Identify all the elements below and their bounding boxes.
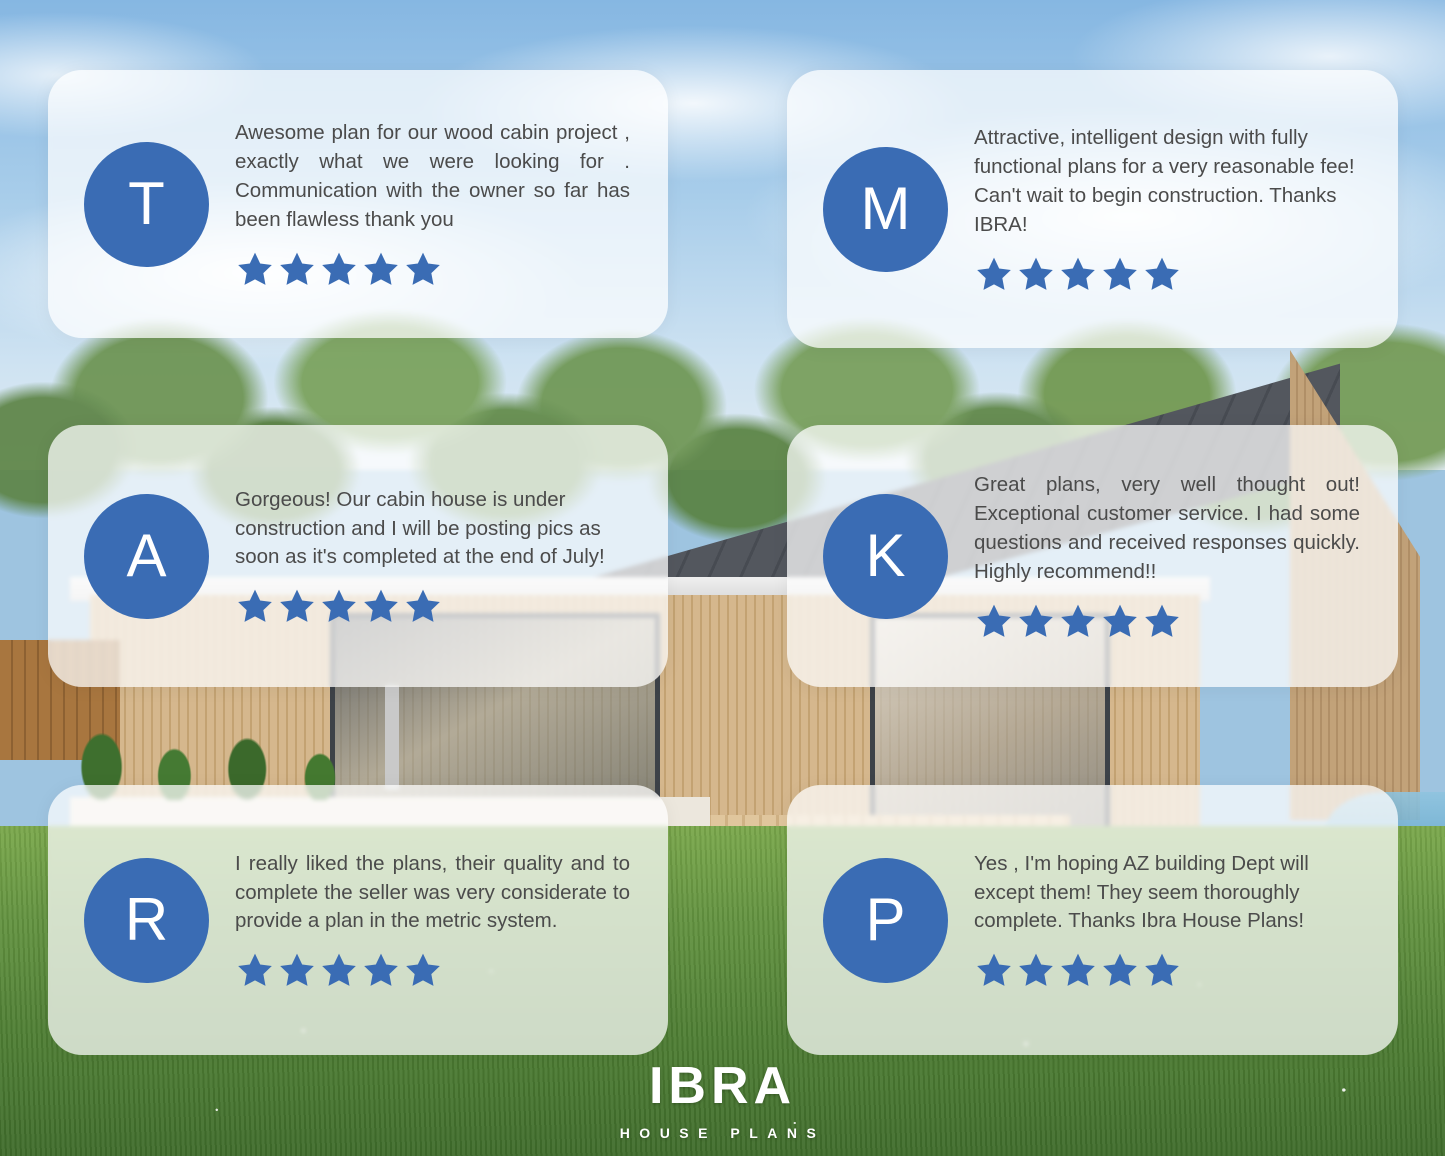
avatar-initial: T: [128, 174, 165, 234]
star-rating: [235, 249, 630, 289]
star-icon: [1016, 601, 1056, 641]
star-icon: [1100, 254, 1140, 294]
avatar-initial: A: [126, 526, 166, 586]
avatar-initial: M: [861, 179, 911, 239]
star-icon: [277, 249, 317, 289]
review-body: Awesome plan for our wood cabin project …: [235, 119, 630, 288]
avatar: A: [84, 494, 209, 619]
star-icon: [1016, 254, 1056, 294]
star-icon: [1100, 601, 1140, 641]
review-body: Great plans, very well thought out! Exce…: [974, 471, 1360, 640]
review-card[interactable]: M Attractive, intelligent design with fu…: [787, 70, 1398, 348]
testimonials-poster: T Awesome plan for our wood cabin projec…: [0, 0, 1445, 1156]
review-body: Attractive, intelligent design with full…: [974, 124, 1360, 293]
star-rating: [974, 254, 1360, 294]
star-icon: [1142, 601, 1182, 641]
avatar-initial: K: [865, 526, 905, 586]
review-card[interactable]: T Awesome plan for our wood cabin projec…: [48, 70, 668, 338]
star-icon: [974, 950, 1014, 990]
star-icon: [361, 249, 401, 289]
star-icon: [1016, 950, 1056, 990]
review-body: Gorgeous! Our cabin house is under const…: [235, 486, 630, 626]
star-icon: [277, 586, 317, 626]
review-text: Gorgeous! Our cabin house is under const…: [235, 486, 630, 572]
avatar-initial: R: [125, 890, 168, 950]
star-icon: [319, 950, 359, 990]
star-icon: [403, 249, 443, 289]
star-icon: [1142, 254, 1182, 294]
star-icon: [1142, 950, 1182, 990]
review-card[interactable]: A Gorgeous! Our cabin house is under con…: [48, 425, 668, 687]
star-rating: [235, 586, 630, 626]
star-icon: [403, 586, 443, 626]
star-icon: [235, 950, 275, 990]
star-icon: [1100, 950, 1140, 990]
brand-name: IBRA: [0, 1060, 1445, 1112]
star-icon: [361, 586, 401, 626]
star-icon: [403, 950, 443, 990]
star-icon: [1058, 601, 1098, 641]
avatar: R: [84, 858, 209, 983]
star-icon: [974, 601, 1014, 641]
avatar: M: [823, 147, 948, 272]
star-icon: [1058, 254, 1098, 294]
star-icon: [974, 254, 1014, 294]
avatar: T: [84, 142, 209, 267]
star-rating: [235, 950, 630, 990]
review-text: Awesome plan for our wood cabin project …: [235, 119, 630, 234]
star-icon: [235, 586, 275, 626]
review-card[interactable]: P Yes , I'm hoping AZ building Dept will…: [787, 785, 1398, 1055]
star-rating: [974, 601, 1360, 641]
star-icon: [319, 586, 359, 626]
star-icon: [319, 249, 359, 289]
review-card[interactable]: K Great plans, very well thought out! Ex…: [787, 425, 1398, 687]
brand-logo: IBRA HOUSE PLANS: [0, 1060, 1445, 1140]
star-rating: [974, 950, 1360, 990]
avatar: P: [823, 858, 948, 983]
review-text: Attractive, intelligent design with full…: [974, 124, 1360, 239]
review-text: Great plans, very well thought out! Exce…: [974, 471, 1360, 586]
avatar-initial: P: [865, 890, 905, 950]
review-body: Yes , I'm hoping AZ building Dept will e…: [974, 850, 1360, 990]
review-text: Yes , I'm hoping AZ building Dept will e…: [974, 850, 1360, 936]
review-text: I really liked the plans, their quality …: [235, 850, 630, 936]
review-card[interactable]: R I really liked the plans, their qualit…: [48, 785, 668, 1055]
shrub-row-shape: [60, 690, 580, 800]
star-icon: [361, 950, 401, 990]
avatar: K: [823, 494, 948, 619]
review-body: I really liked the plans, their quality …: [235, 850, 630, 990]
brand-tagline: HOUSE PLANS: [0, 1126, 1445, 1140]
star-icon: [235, 249, 275, 289]
star-icon: [1058, 950, 1098, 990]
star-icon: [277, 950, 317, 990]
